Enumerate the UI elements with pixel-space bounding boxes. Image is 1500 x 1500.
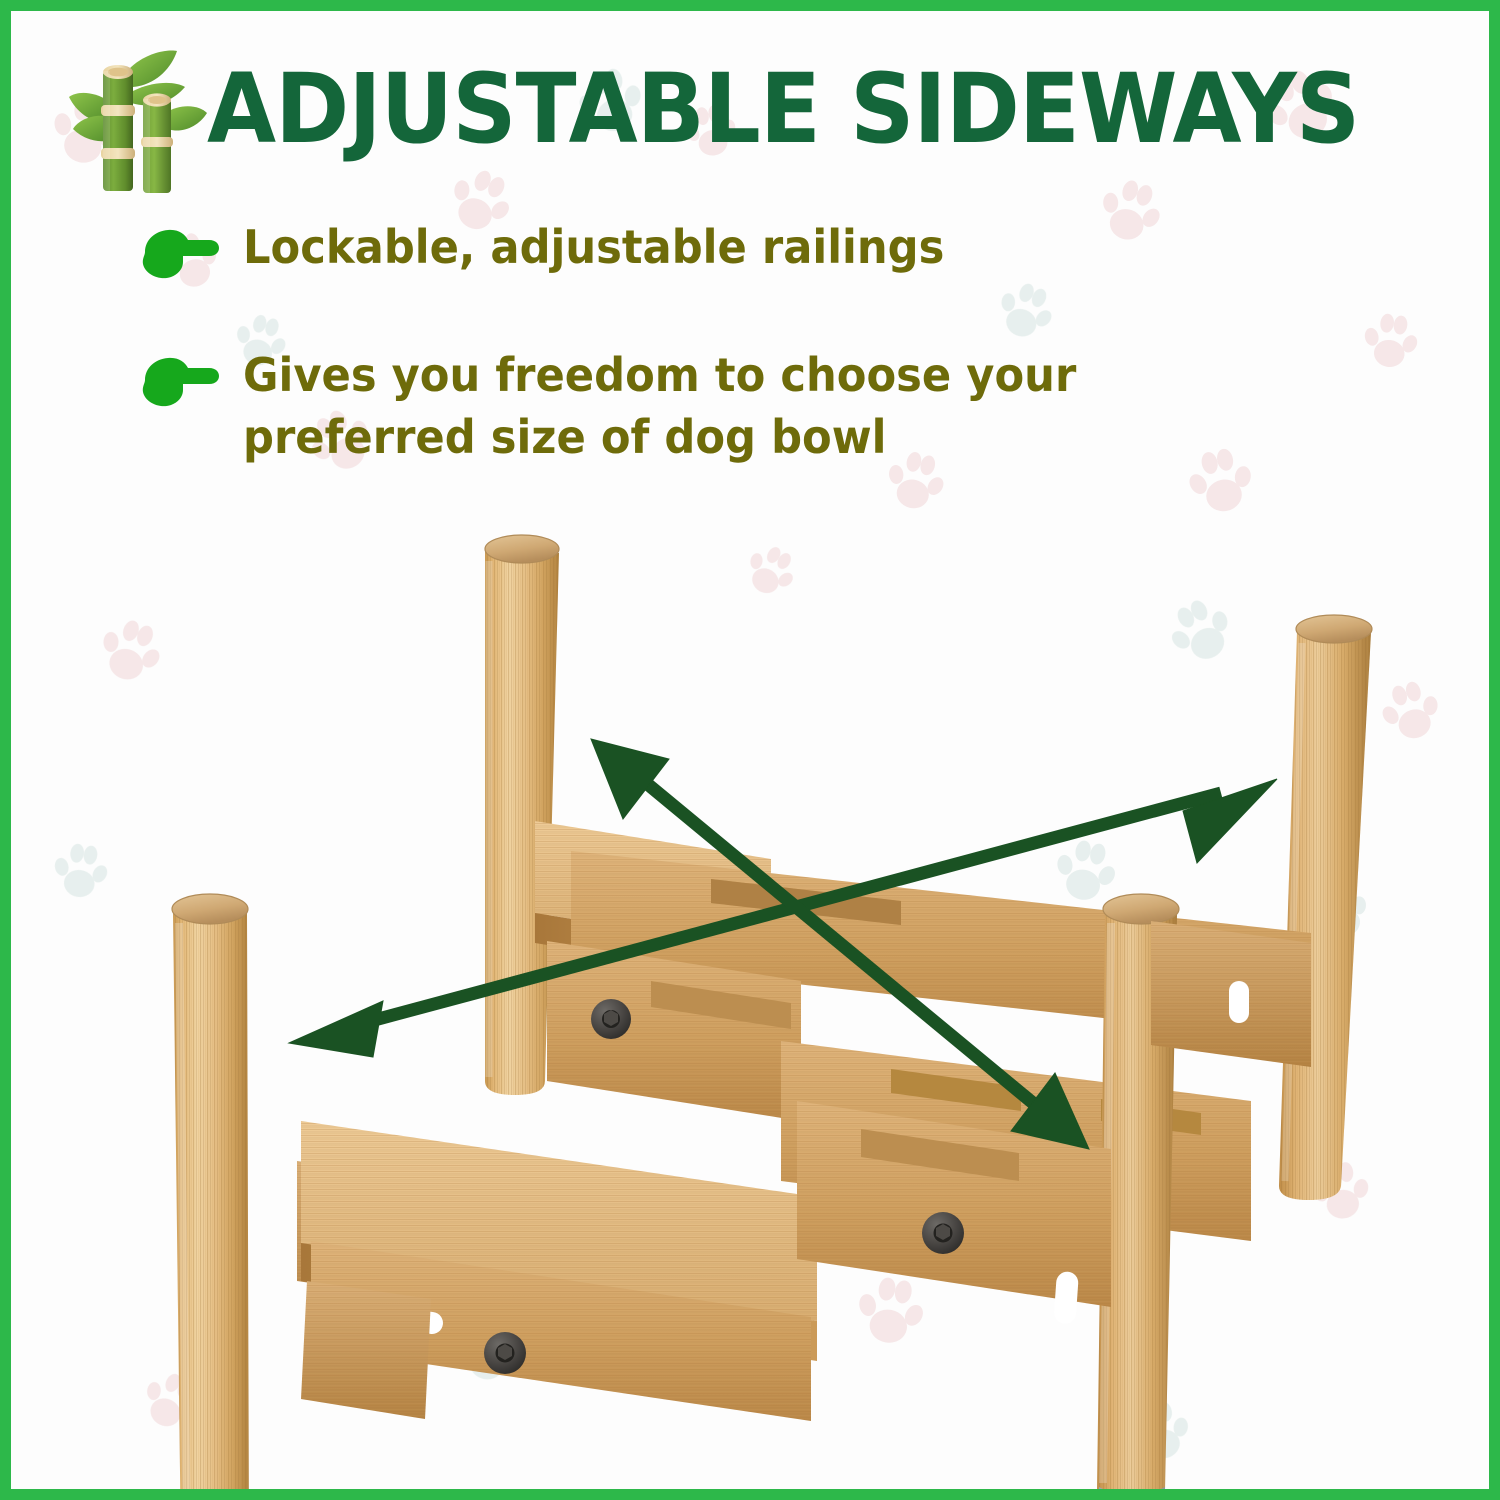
list-item-label: Gives you freedom to choose your preferr…	[243, 344, 1258, 468]
bamboo-icon	[67, 47, 211, 199]
bamboo-stalk	[141, 93, 173, 193]
product-photo	[11, 481, 1500, 1500]
adjustment-slot	[1053, 1271, 1079, 1324]
stand-rail	[1151, 921, 1311, 1067]
stand-leg	[172, 894, 249, 1500]
bamboo-leaf	[129, 51, 177, 87]
stand-leg	[1279, 615, 1372, 1200]
feature-bullet-list: Lockable, adjustable railings Gives you …	[11, 216, 1489, 526]
bamboo-stalk	[101, 65, 135, 191]
infographic-canvas: ADJUSTABLE SIDEWAYS Lockable, adjustable…	[0, 0, 1500, 1500]
pointing-hand-icon	[139, 350, 221, 414]
pointing-hand-icon	[139, 222, 221, 286]
page-title: ADJUSTABLE SIDEWAYS	[207, 59, 1359, 160]
adjustment-slot	[1229, 981, 1249, 1023]
list-item: Lockable, adjustable railings	[11, 216, 1489, 286]
header: ADJUSTABLE SIDEWAYS	[11, 11, 1489, 201]
stand-rail	[301, 1281, 431, 1419]
list-item: Gives you freedom to choose your preferr…	[11, 344, 1489, 468]
list-item-label: Lockable, adjustable railings	[243, 216, 944, 278]
